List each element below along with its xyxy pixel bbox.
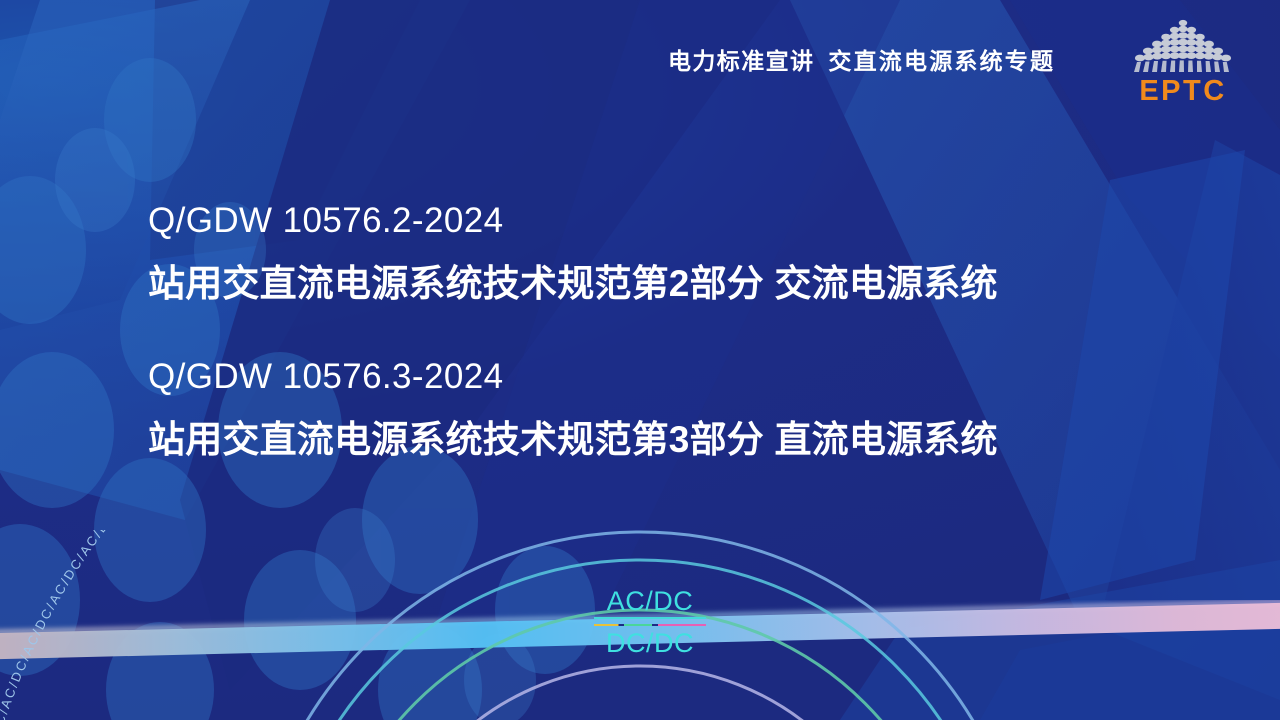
acdc-ticker-text: AC/DC/AC/DC/AC/DC/AC/DC/AC/DC/AC/DC/AC/D…	[0, 530, 506, 720]
standards-title-block: Q/GDW 10576.2-2024 站用交直流电源系统技术规范第2部分 交流电…	[148, 190, 1158, 472]
acdc-emblem-line2: DC/DC	[592, 628, 708, 658]
header-title: 电力标准宣讲交直流电源系统专题	[668, 42, 1055, 76]
eptc-logo: EPTC	[1124, 18, 1242, 108]
eptc-logo-text: EPTC	[1124, 74, 1242, 108]
acdc-ticker-textpath: AC/DC/AC/DC/AC/DC/AC/DC/AC/DC/AC/DC/AC/D…	[0, 530, 506, 720]
standard-entry: Q/GDW 10576.3-2024 站用交直流电源系统技术规范第3部分 直流电…	[148, 346, 1158, 472]
header-title-main: 电力标准宣讲	[668, 48, 814, 74]
acdc-emblem-divider	[592, 617, 708, 627]
acdc-emblem: AC/DC DC/DC	[592, 586, 708, 658]
standard-name: 站用交直流电源系统技术规范第2部分 交流电源系统	[148, 252, 1158, 316]
header-title-sub: 交直流电源系统专题	[828, 48, 1055, 74]
standard-entry: Q/GDW 10576.2-2024 站用交直流电源系统技术规范第2部分 交流电…	[148, 190, 1158, 316]
standard-name: 站用交直流电源系统技术规范第3部分 直流电源系统	[148, 408, 1158, 472]
standard-code: Q/GDW 10576.3-2024	[148, 346, 1158, 408]
slide-header: 电力标准宣讲交直流电源系统专题	[0, 0, 1280, 120]
pyramid-dots-icon	[1124, 18, 1242, 74]
slide-root: AC/DC/AC/DC/AC/DC/AC/DC/AC/DC/AC/DC/AC/D…	[0, 0, 1280, 720]
standard-code: Q/GDW 10576.2-2024	[148, 190, 1158, 252]
acdc-emblem-line1: AC/DC	[592, 586, 708, 616]
